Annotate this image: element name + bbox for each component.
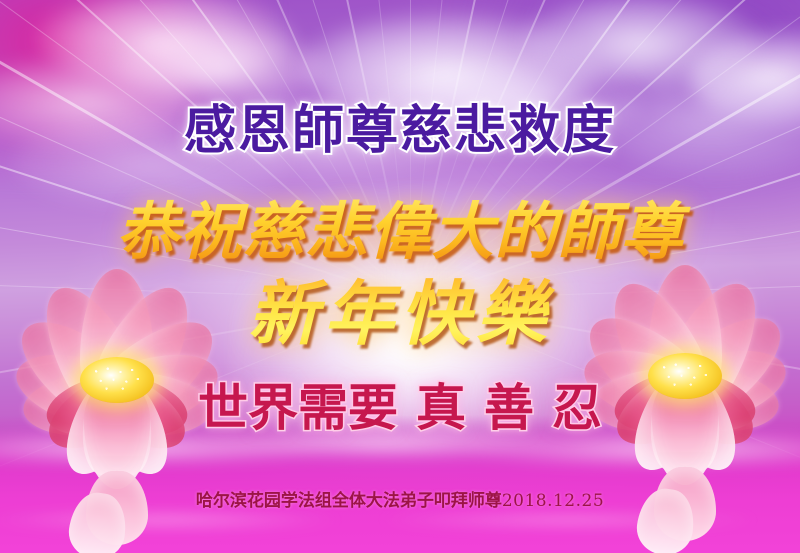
signature-line: 哈尔滨花园学法组全体大法弟子叩拜师尊2018.12.25 [0,486,800,511]
greeting-line-happy-new-year: 新年快樂 [0,258,800,359]
greeting-line-gratitude: 感恩師尊慈悲救度 [0,88,800,163]
greeting-line-world-needs: 世界需要真善忍 [0,368,800,440]
signature-text: 哈尔滨花园学法组全体大法弟子叩拜师尊 [196,491,502,511]
signature-date: 2018.12.25 [502,491,604,511]
world-needs-prefix: 世界需要 [198,379,398,437]
greeting-card: 感恩師尊慈悲救度 恭祝慈悲偉大的師尊 新年快樂 世界需要真善忍 哈尔滨花园学法组… [0,0,800,553]
character-shan: 善 [484,379,534,437]
text-layer: 感恩師尊慈悲救度 恭祝慈悲偉大的師尊 新年快樂 世界需要真善忍 哈尔滨花园学法组… [0,0,800,553]
character-ren: 忍 [552,379,602,437]
character-zhen: 真 [416,379,466,437]
